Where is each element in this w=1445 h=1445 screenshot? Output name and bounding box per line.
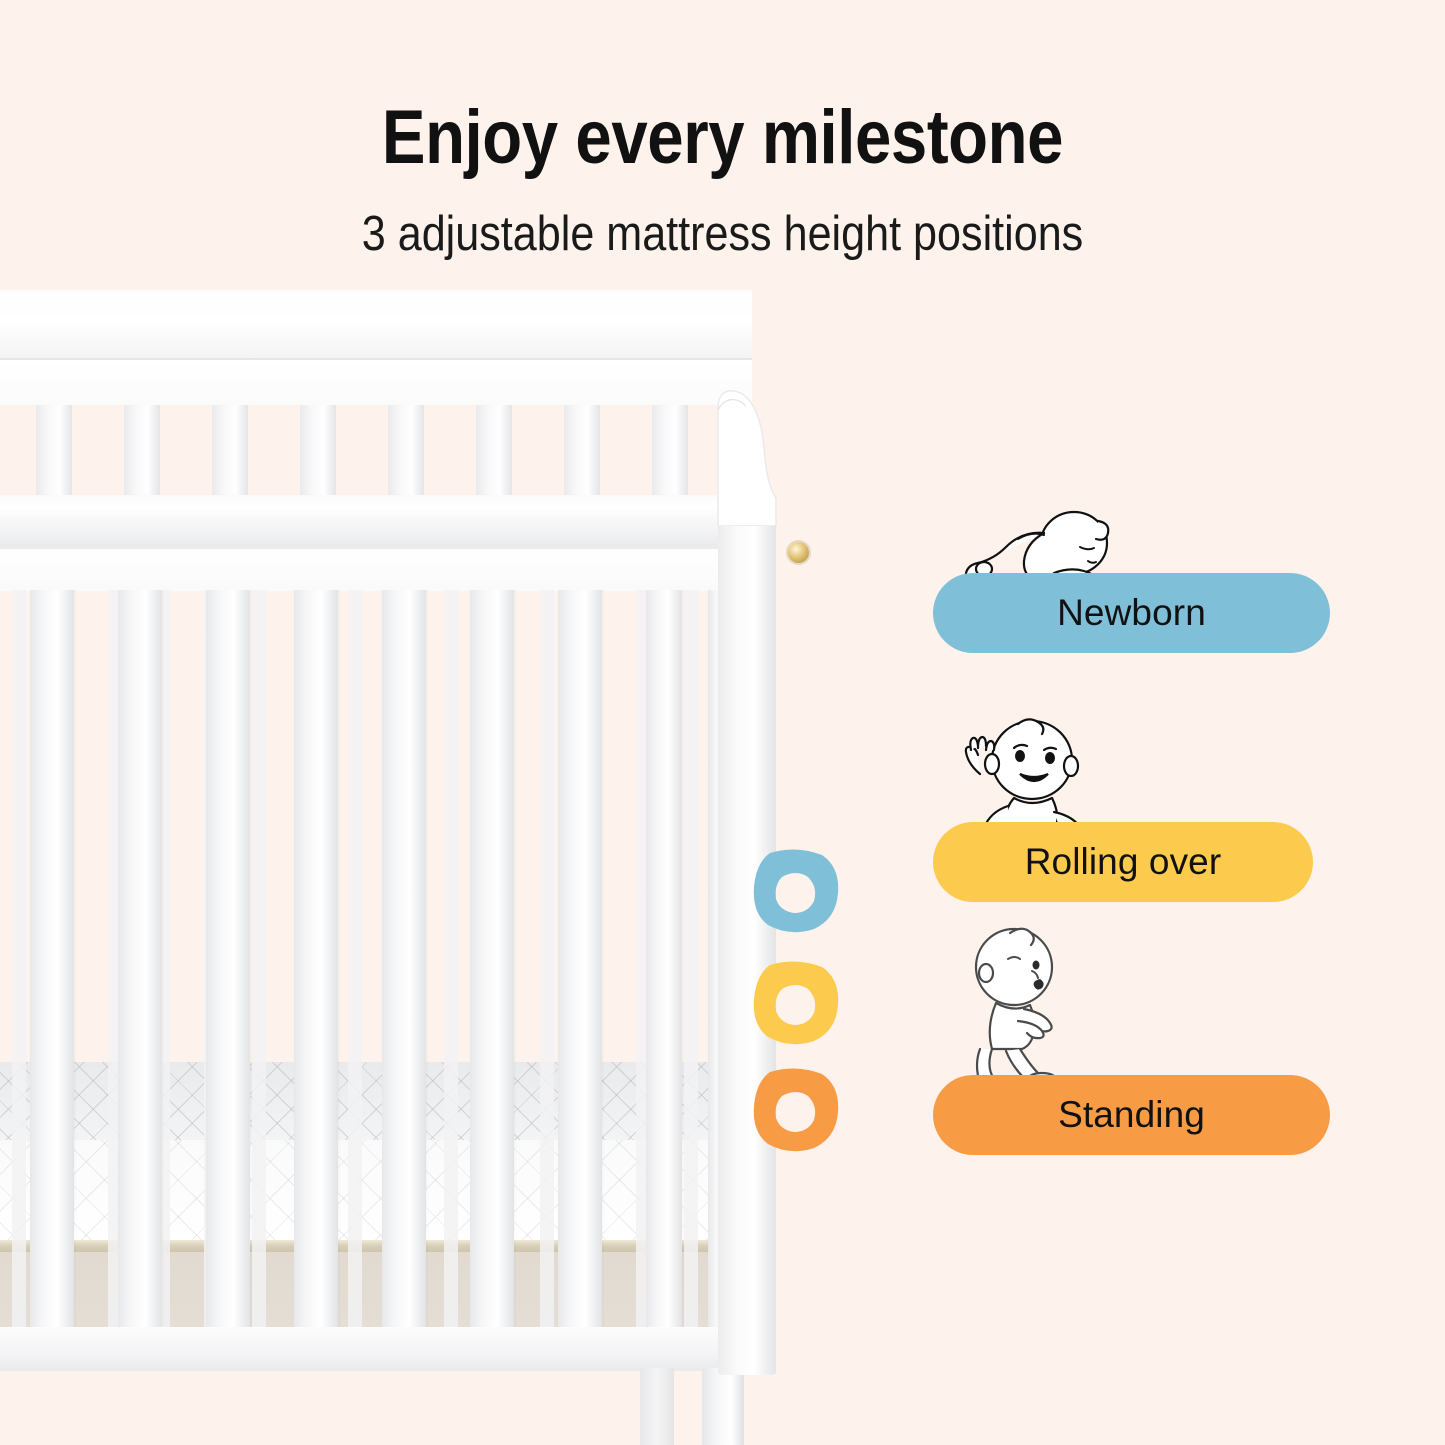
mattress-position-ring-middle: [748, 955, 844, 1051]
infographic-canvas: Enjoy every milestone 3 adjustable mattr…: [0, 0, 1445, 1445]
crib-main-slats: [0, 590, 752, 1330]
crib-slat-upper: [564, 405, 600, 500]
crib-leg-rear: [640, 1368, 674, 1445]
crib-product-image: [0, 290, 870, 1445]
milestone-pill-newborn[interactable]: Newborn: [933, 573, 1330, 653]
crib-headboard-panel: [0, 290, 752, 360]
crib-slat-upper: [300, 405, 336, 500]
toddler-walking-icon: [958, 925, 1088, 1090]
crib-headboard-lower-band: [0, 549, 752, 591]
crib-slat: [294, 590, 338, 1330]
milestone-label-standing: Standing: [1058, 1094, 1205, 1136]
crib-headboard-panel-lower: [0, 360, 752, 405]
crib-slat-upper: [212, 405, 248, 500]
crib-slat: [206, 590, 250, 1330]
crib-slat-upper: [36, 405, 72, 500]
crib-slat: [382, 590, 426, 1330]
milestone-pill-rolling-over[interactable]: Rolling over: [933, 822, 1313, 902]
brass-screw-icon-post: [788, 542, 809, 563]
crib-slat-upper: [388, 405, 424, 500]
milestone-label-newborn: Newborn: [1057, 592, 1206, 634]
crib-slat-far: [444, 590, 458, 1330]
crib-slat-far: [252, 590, 266, 1330]
crib-slat: [646, 590, 682, 1330]
crib-slat: [470, 590, 514, 1330]
crib-slat-upper: [652, 405, 688, 500]
mattress-position-ring-high: [748, 843, 844, 939]
milestone-pill-standing[interactable]: Standing: [933, 1075, 1330, 1155]
crib-slat: [30, 590, 74, 1330]
crib-slat-upper: [124, 405, 160, 500]
page-subtitle: 3 adjustable mattress height positions: [87, 205, 1359, 263]
crib-post-scroll-curve: [684, 386, 796, 526]
crib-slat-upper: [476, 405, 512, 500]
crib-slat: [118, 590, 162, 1330]
crib-slat: [558, 590, 602, 1330]
page-title: Enjoy every milestone: [101, 96, 1344, 180]
milestone-label-rolling-over: Rolling over: [1025, 841, 1222, 883]
crib-slat-far: [684, 590, 698, 1330]
crib-bottom-rail: [0, 1327, 760, 1371]
mattress-position-ring-low: [748, 1062, 844, 1158]
crib-top-rail: [0, 495, 760, 547]
crib-upper-slats: [0, 405, 740, 500]
crib-slat-far: [12, 590, 26, 1330]
crib-slat-far: [348, 590, 362, 1330]
crib-leg-front: [702, 1368, 744, 1445]
crib-slat-far: [540, 590, 554, 1330]
